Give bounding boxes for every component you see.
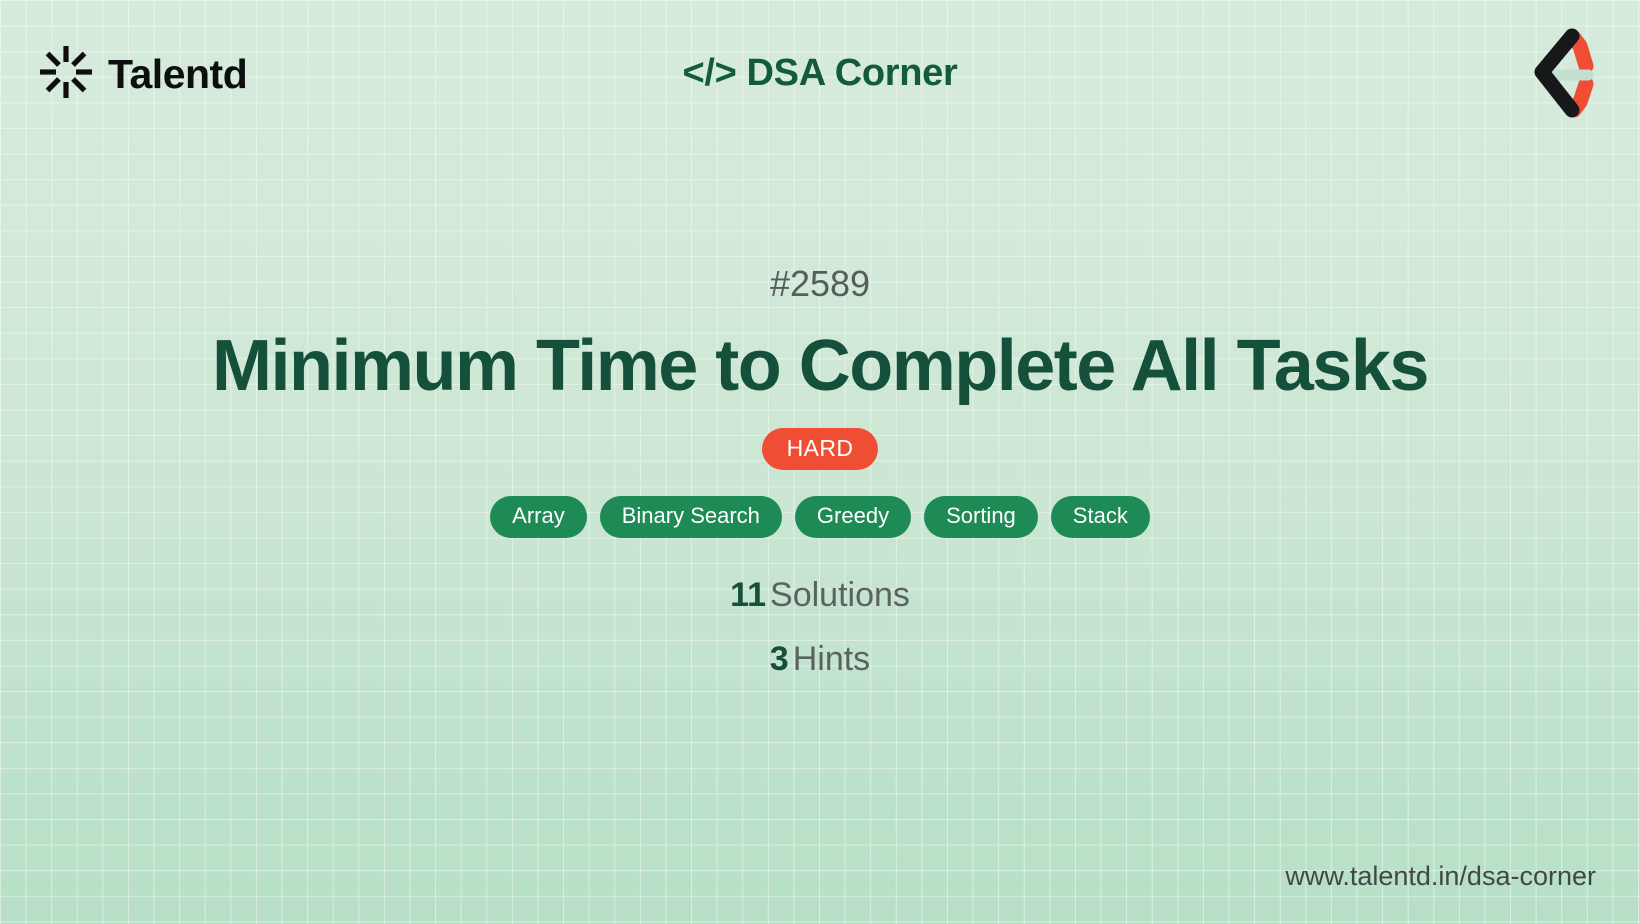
problem-title: Minimum Time to Complete All Tasks [152,328,1488,406]
topic-tag[interactable]: Greedy [795,496,911,538]
card-header: Talentd </>DSA Corner [0,0,1640,158]
page-title: </>DSA Corner [0,52,1640,95]
topic-tag[interactable]: Array [490,496,587,538]
dsa-corner-problem-card: Talentd </>DSA Corner #2589 Minimum Time… [0,0,1640,924]
code-brackets-icon: </> [682,52,736,94]
c-chevron-logo-icon [1502,22,1598,131]
page-title-text: DSA Corner [747,52,958,94]
solutions-count: 11 [730,576,766,614]
topic-tag[interactable]: Binary Search [600,496,782,538]
solutions-label: Solutions [770,576,910,614]
topic-tag-list: Array Binary Search Greedy Sorting Stack [490,496,1150,538]
hints-count: 3 [770,640,789,678]
topic-tag[interactable]: Sorting [924,496,1038,538]
problem-number: #2589 [770,266,870,302]
hints-stat: 3Hints [770,642,870,676]
difficulty-badge: HARD [762,428,879,470]
topic-tag[interactable]: Stack [1051,496,1150,538]
solutions-stat: 11Solutions [730,578,910,612]
footer-url: www.talentd.in/dsa-corner [1285,863,1596,890]
problem-details: #2589 Minimum Time to Complete All Tasks… [0,158,1640,804]
hints-label: Hints [793,640,870,678]
